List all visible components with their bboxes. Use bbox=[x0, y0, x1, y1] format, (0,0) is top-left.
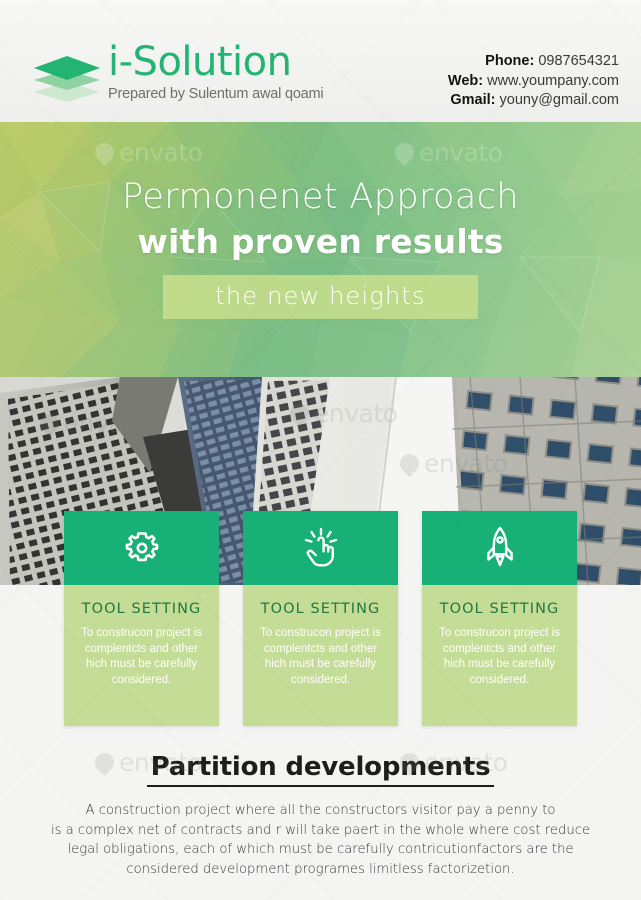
feature-card-title: TOOL SETTING bbox=[73, 601, 210, 617]
hero-badge-label: the new heights bbox=[215, 282, 425, 310]
feature-card[interactable]: TOOL SETTING To construcon project is co… bbox=[422, 511, 577, 726]
hero-content: Permonenet Approach with proven results … bbox=[0, 122, 641, 377]
gmail-value[interactable]: youny@gmail.com bbox=[500, 92, 619, 108]
hero-banner: Permonenet Approach with proven results … bbox=[0, 122, 641, 377]
pointing-hand-click-icon bbox=[301, 527, 341, 569]
phone-label: Phone: bbox=[485, 53, 534, 69]
feature-card-text: To construcon project is complentcts and… bbox=[431, 626, 568, 688]
header-bar: i-Solution Prepared by Sulentum awal qoa… bbox=[0, 0, 641, 122]
feature-card-title: TOOL SETTING bbox=[431, 601, 568, 617]
contact-block: Phone: 0987654321 Web: www.youmpany.com … bbox=[448, 52, 619, 111]
feature-card-text: To construcon project is complentcts and… bbox=[73, 626, 210, 688]
feature-card-header bbox=[422, 511, 577, 585]
contact-web-row: Web: www.youmpany.com bbox=[448, 72, 619, 92]
feature-card-body: TOOL SETTING To construcon project is co… bbox=[422, 585, 577, 726]
brand-name: i-Solution bbox=[108, 42, 323, 82]
web-label: Web: bbox=[448, 73, 483, 89]
feature-card-body: TOOL SETTING To construcon project is co… bbox=[64, 585, 219, 726]
web-value[interactable]: www.youmpany.com bbox=[487, 73, 619, 89]
feature-card-header bbox=[243, 511, 398, 585]
section-body-line: is a complex net of contracts and r will… bbox=[36, 821, 605, 841]
feature-cards: TOOL SETTING To construcon project is co… bbox=[0, 511, 641, 726]
feature-card-title: TOOL SETTING bbox=[252, 601, 389, 617]
brand-tagline: Prepared by Sulentum awal qoami bbox=[108, 86, 323, 102]
hero-subheadline: with proven results bbox=[137, 222, 503, 262]
feature-card-body: TOOL SETTING To construcon project is co… bbox=[243, 585, 398, 726]
brand-logo[interactable]: i-Solution Prepared by Sulentum awal qoa… bbox=[30, 42, 323, 104]
section-body-line: A construction project where all the con… bbox=[36, 801, 605, 821]
flyer-poster: i-Solution Prepared by Sulentum awal qoa… bbox=[0, 0, 641, 900]
gear-icon bbox=[122, 528, 162, 568]
feature-card-header bbox=[64, 511, 219, 585]
brand-text-block: i-Solution Prepared by Sulentum awal qoa… bbox=[108, 42, 323, 102]
feature-card[interactable]: TOOL SETTING To construcon project is co… bbox=[243, 511, 398, 726]
section-title: Partition developments bbox=[147, 752, 495, 787]
feature-card-text: To construcon project is complentcts and… bbox=[252, 626, 389, 688]
partition-section: Partition developments A construction pr… bbox=[0, 738, 641, 900]
hero-badge: the new heights bbox=[163, 275, 477, 319]
stacked-diamonds-icon bbox=[30, 48, 104, 104]
section-body: A construction project where all the con… bbox=[0, 801, 641, 879]
phone-value[interactable]: 0987654321 bbox=[538, 53, 619, 69]
gmail-label: Gmail: bbox=[450, 92, 495, 108]
section-body-line: legal obligations, each of which must be… bbox=[36, 840, 605, 860]
hero-headline: Permonenet Approach bbox=[122, 178, 519, 216]
section-body-line: considered development programes limitle… bbox=[36, 860, 605, 880]
contact-phone-row: Phone: 0987654321 bbox=[448, 52, 619, 72]
rocket-icon bbox=[483, 526, 517, 570]
contact-gmail-row: Gmail: youny@gmail.com bbox=[448, 91, 619, 111]
feature-card[interactable]: TOOL SETTING To construcon project is co… bbox=[64, 511, 219, 726]
